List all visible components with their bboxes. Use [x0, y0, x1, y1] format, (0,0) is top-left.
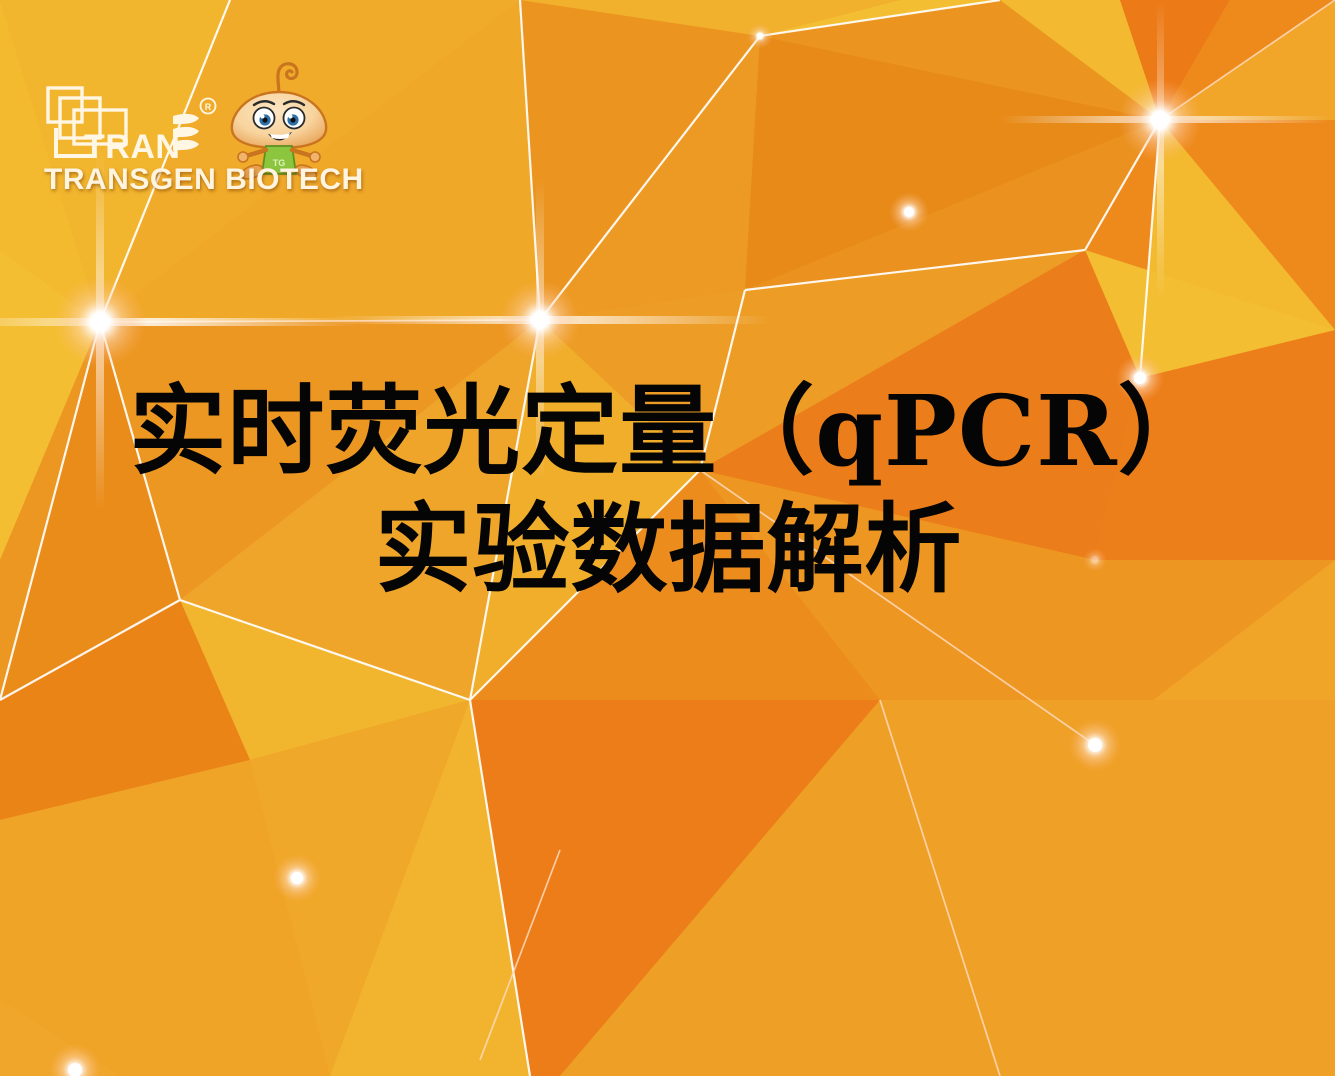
registered-trademark-icon: R — [201, 99, 216, 114]
company-logo: TRAN R — [42, 52, 352, 202]
glow-star-lower-left — [273, 854, 321, 902]
trans-logo-mark-icon: TRAN R — [42, 84, 217, 164]
glow-star-lower-right — [1069, 719, 1121, 771]
svg-text:R: R — [205, 102, 212, 112]
slide-canvas: TRAN R — [0, 0, 1335, 1076]
garlic-mascot-icon: TG — [224, 52, 334, 180]
glow-star-mid-right-faint — [1083, 548, 1107, 572]
glow-star-top-center — [747, 23, 773, 49]
svg-text:TRAN: TRAN — [84, 128, 180, 164]
glow-star-right — [1116, 354, 1164, 402]
glow-star-upper-mid-right — [889, 192, 929, 232]
trans-helix-s-glyph — [173, 114, 199, 150]
logo-wordmark: TRANSGEN BIOTECH — [44, 162, 344, 198]
